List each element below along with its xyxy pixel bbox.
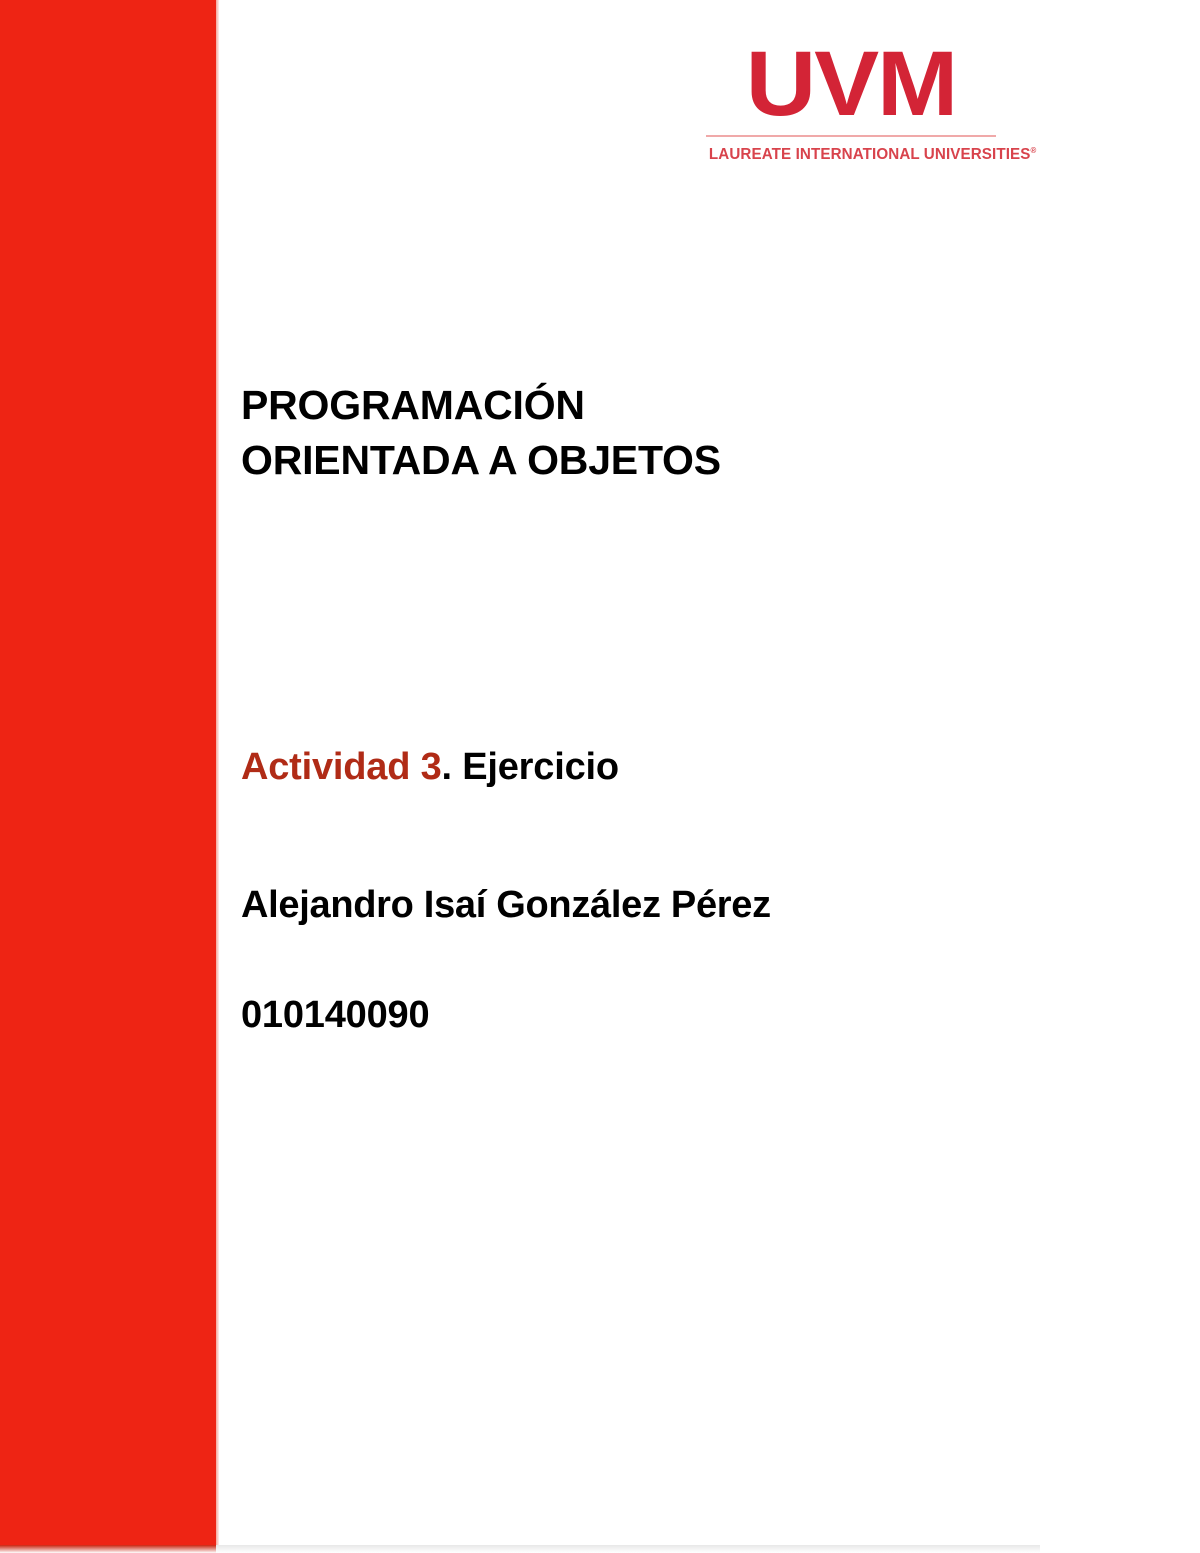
activity-line: Actividad 3. Ejercicio (241, 746, 619, 789)
page-title: PROGRAMACIÓN ORIENTADA A OBJETOS (241, 378, 721, 487)
registered-mark-icon: ® (1030, 146, 1036, 155)
author-name: Alejandro Isaí González Pérez (241, 884, 771, 927)
left-band-edge (216, 0, 219, 1545)
student-id: 010140090 (241, 994, 429, 1037)
cover-page: UVM LAUREATE INTERNATIONAL UNIVERSITIES®… (0, 0, 1200, 1553)
left-red-band (0, 0, 216, 1545)
activity-description: . Ejercicio (442, 746, 619, 788)
logo-tagline-text: LAUREATE INTERNATIONAL UNIVERSITIES (709, 146, 1031, 163)
logo-divider-rule (706, 135, 996, 137)
logo-tagline: LAUREATE INTERNATIONAL UNIVERSITIES® (709, 146, 993, 164)
page-bottom-shadow-band (0, 1545, 216, 1553)
uvm-wordmark-text: UVM (697, 44, 1004, 125)
activity-label: Actividad 3 (241, 746, 442, 788)
uvm-logo: UVM LAUREATE INTERNATIONAL UNIVERSITIES® (706, 44, 996, 164)
